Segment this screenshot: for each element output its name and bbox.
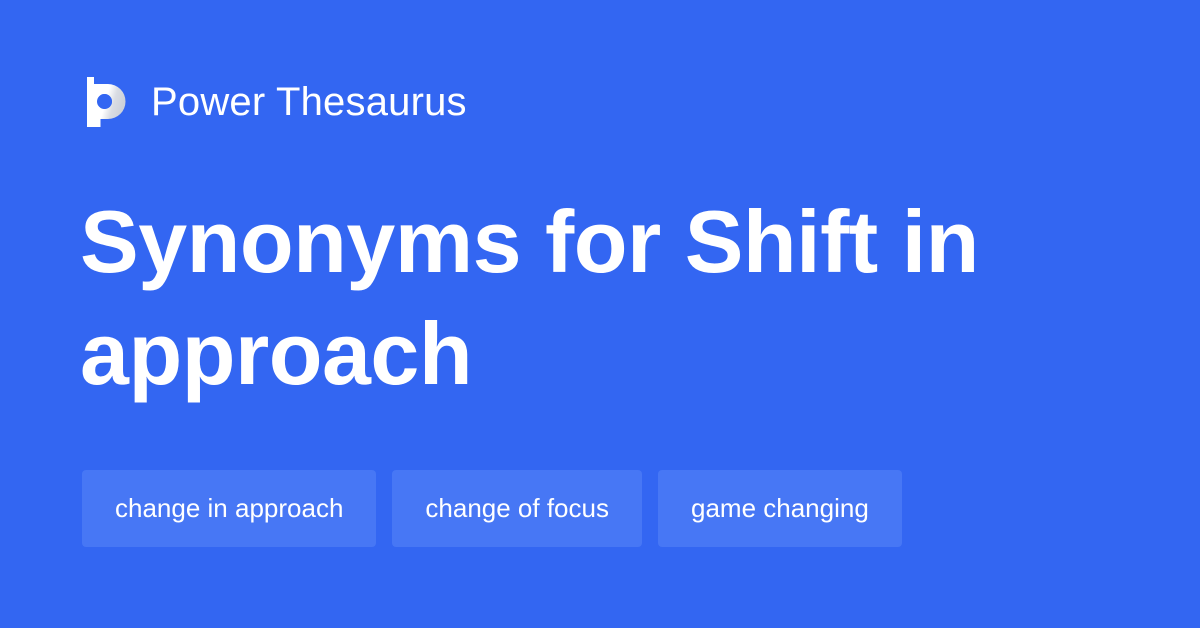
open-graph-card: power thesaurus Synonyms for Shift in ap… [0, 0, 1200, 628]
power-thesaurus-logo-icon [82, 77, 126, 127]
synonym-chip[interactable]: change in approach [82, 470, 376, 547]
brand-header[interactable]: power thesaurus [82, 74, 467, 130]
brand-name: power thesaurus [151, 82, 467, 122]
page-title: Synonyms for Shift in approach [80, 186, 1090, 410]
synonym-chip[interactable]: game changing [658, 470, 902, 547]
synonym-chip-list: change in approach change of focus game … [82, 470, 902, 547]
synonym-chip[interactable]: change of focus [392, 470, 642, 547]
